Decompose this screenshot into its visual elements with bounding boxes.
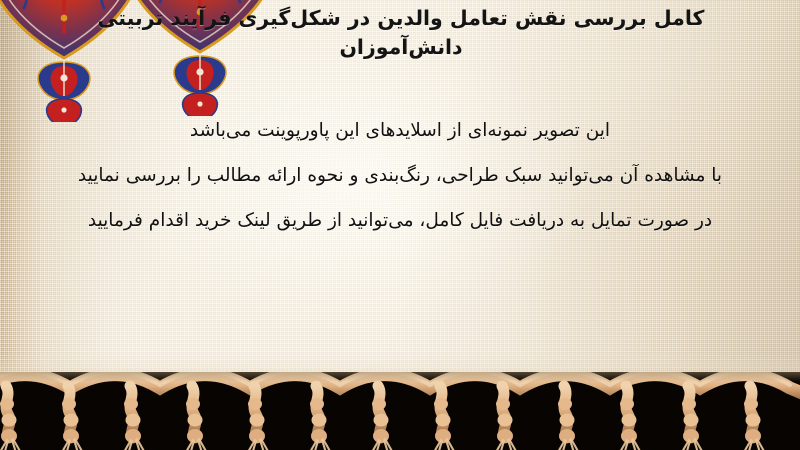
tassel-group (0, 386, 772, 450)
slide-title: کامل بررسی نقش تعامل والدین در شکل‌گیری … (16, 4, 786, 62)
slide-title-line-1: کامل بررسی نقش تعامل والدین در شکل‌گیری … (98, 6, 705, 30)
slide-body: این تصویر نمونه‌ای از اسلایدهای این پاور… (12, 108, 788, 243)
carpet-tassel-fringe (0, 372, 800, 450)
slide-body-line-3: در صورت تمایل به دریافت فایل کامل، می‌تو… (12, 198, 788, 243)
fringe-svg (0, 372, 800, 450)
slide-title-line-2: دانش‌آموزان (16, 33, 786, 62)
slide-body-line-1: این تصویر نمونه‌ای از اسلایدهای این پاور… (12, 108, 788, 153)
presentation-slide: کامل بررسی نقش تعامل والدین در شکل‌گیری … (0, 0, 800, 450)
slide-body-line-2: با مشاهده آن می‌توانید سبک طراحی، رنگ‌بن… (12, 153, 788, 198)
